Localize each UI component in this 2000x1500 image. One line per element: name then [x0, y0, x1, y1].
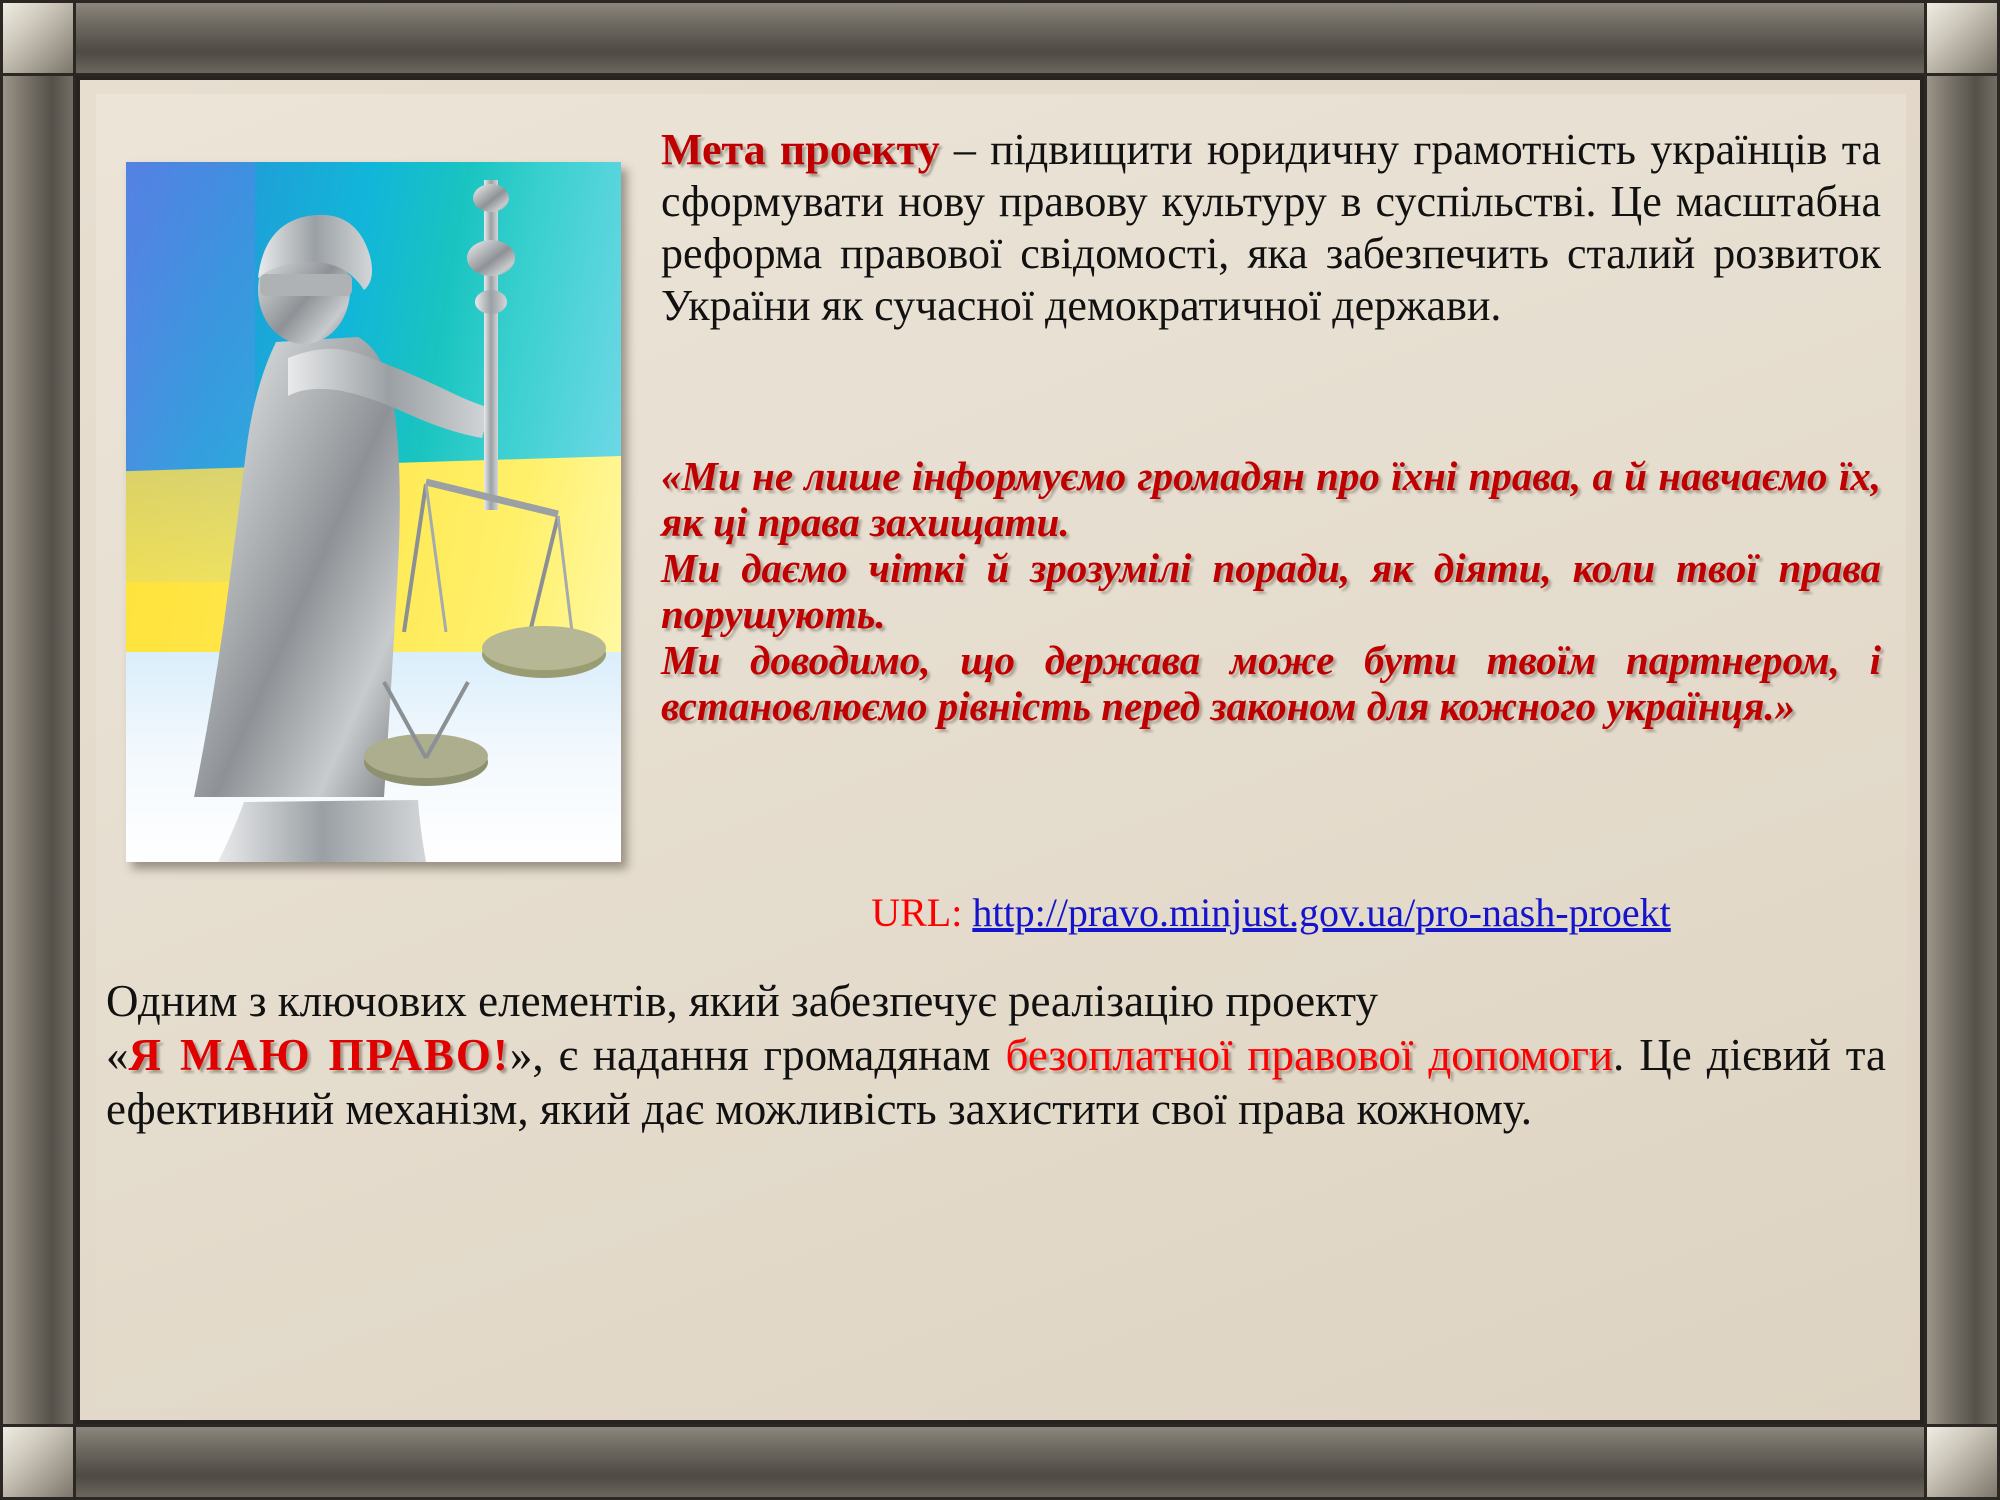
quote-line-1: «Ми не лише інформуємо громадян про їхні… [661, 454, 1881, 546]
slide-canvas: Мета проекту – підвищити юридичну грамот… [96, 94, 1906, 1408]
frame-left-band [0, 0, 76, 1500]
frame-bottom-band [0, 1424, 2000, 1500]
frame-corner-top-left [0, 0, 76, 76]
justice-statue-figure [126, 162, 621, 862]
frame-corner-bottom-left [0, 1424, 76, 1500]
frame-corner-top-right [1924, 0, 2000, 76]
project-url-link[interactable]: http://pravo.minjust.gov.ua/pro-nash-pro… [972, 890, 1670, 935]
quote-open-mark: « [106, 1030, 129, 1080]
slide-root: Мета проекту – підвищити юридичну грамот… [0, 0, 2000, 1500]
url-label: URL: [871, 890, 962, 935]
frame-corner-bottom-right [1924, 1424, 2000, 1500]
project-quote: «Ми не лише інформуємо громадян про їхні… [661, 454, 1881, 729]
bottom-text-part2: є надання громадянам [544, 1030, 1006, 1080]
quote-line-2: Ми даємо чіткі й зрозумілі поради, як ді… [661, 546, 1881, 638]
quote-close-mark: », [510, 1030, 544, 1080]
slogan-ya-mayu-pravo: Я МАЮ ПРАВО! [129, 1030, 510, 1080]
goal-paragraph: Мета проекту – підвищити юридичну грамот… [661, 124, 1881, 332]
bottom-text-part1: Одним з ключових елементів, який забезпе… [106, 976, 1378, 1026]
frame-top-band [0, 0, 2000, 76]
lady-justice-image [126, 162, 621, 862]
quote-line-3: Ми доводимо, що держава може бути твоїм … [661, 638, 1881, 730]
free-legal-aid-highlight: безоплатної правової допомоги [1006, 1030, 1613, 1080]
frame-right-band [1924, 0, 2000, 1500]
bottom-paragraph: Одним з ключових елементів, який забезпе… [106, 974, 1886, 1136]
goal-highlight: Мета проекту [661, 125, 940, 174]
url-line: URL: http://pravo.minjust.gov.ua/pro-nas… [661, 889, 1881, 936]
